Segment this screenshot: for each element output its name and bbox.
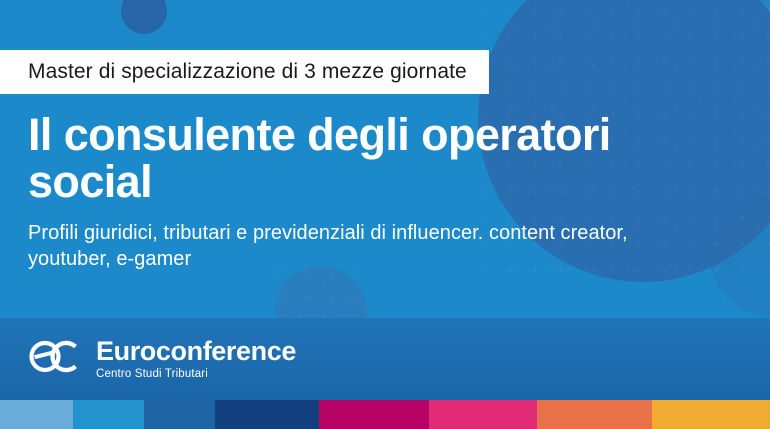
brand-color-strip — [0, 400, 770, 429]
logo-wordmark: Euroconference Centro Studi Tributari — [96, 338, 296, 381]
brand-footer-band: Euroconference Centro Studi Tributari — [0, 318, 770, 400]
color-swatch-azure — [73, 400, 144, 429]
color-swatch-navy — [215, 400, 319, 429]
ec-monogram-icon — [28, 338, 84, 380]
brand-tagline: Centro Studi Tributari — [96, 369, 296, 381]
color-swatch-magenta — [319, 400, 429, 429]
color-swatch-orange — [537, 400, 652, 429]
banner-subtitle: Profili giuridici, tributari e previdenz… — [0, 220, 700, 273]
euroconference-logo: Euroconference Centro Studi Tributari — [0, 338, 296, 381]
banner-title: Il consulente degli operatori social — [0, 111, 700, 206]
eyebrow-label: Master di specializzazione di 3 mezze gi… — [0, 50, 489, 94]
brand-name: Euroconference — [96, 338, 296, 365]
color-swatch-yellow — [652, 400, 770, 429]
banner-content: Master di specializzazione di 3 mezze gi… — [0, 0, 770, 272]
color-swatch-pink — [429, 400, 537, 429]
color-swatch-light-blue — [0, 400, 73, 429]
color-swatch-medium-blue — [144, 400, 215, 429]
promotional-banner: Master di specializzazione di 3 mezze gi… — [0, 0, 770, 429]
